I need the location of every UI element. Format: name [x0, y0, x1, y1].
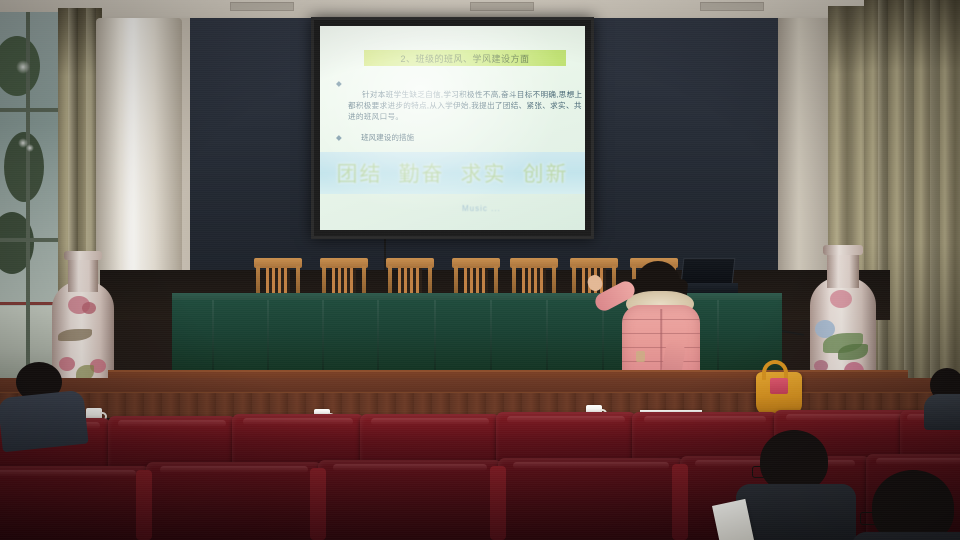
seat-armrest: [136, 470, 152, 540]
seat-armrest: [310, 468, 326, 540]
column: [778, 18, 830, 280]
bag-strap: [762, 360, 788, 380]
curtain: [864, 0, 960, 392]
glasses-icon: [860, 512, 882, 525]
wooden-chair: [320, 258, 368, 294]
ceiling-vent-icon: [700, 2, 764, 11]
attendee-far-right: [928, 368, 960, 418]
wooden-chair: [510, 258, 558, 294]
wooden-chair: [452, 258, 500, 294]
attendee-right: [862, 470, 960, 540]
glasses-icon: [752, 466, 772, 478]
auditorium-seat: [146, 462, 322, 540]
projection-screen: 2、班级的班风、学风建设方面 ◆ 针对本班学生缺乏自信,学习积极性不高,奋斗目标…: [311, 17, 594, 239]
seat-armrest: [672, 464, 688, 540]
seat-armrest: [490, 466, 506, 540]
attendee-center: [742, 430, 872, 540]
photo-scene: 2、班级的班风、学风建设方面 ◆ 针对本班学生缺乏自信,学习积极性不高,奋斗目标…: [0, 0, 960, 540]
wooden-chair: [254, 258, 302, 294]
attendee-left: [0, 362, 110, 442]
slide-surface: 2、班级的班风、学风建设方面 ◆ 针对本班学生缺乏自信,学习积极性不高,奋斗目标…: [320, 26, 585, 230]
bag-tag: [770, 378, 788, 394]
wooden-chair: [386, 258, 434, 294]
ceiling-vent-icon: [470, 2, 534, 11]
auditorium-seat: [0, 466, 150, 540]
auditorium-seat: [498, 458, 684, 540]
ceiling-vent-icon: [230, 2, 294, 11]
porcelain-vase-right: [810, 242, 876, 386]
auditorium-seat: [318, 460, 502, 540]
